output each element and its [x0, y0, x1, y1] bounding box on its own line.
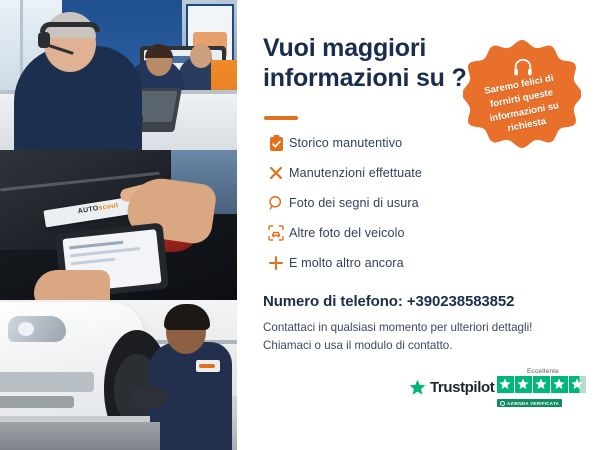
list-item-label: E molto altro ancora: [289, 256, 404, 270]
contact-line-2: Chiamaci o usa il modulo di contatto.: [263, 337, 563, 355]
contact-text: Contattaci in qualsiasi momento per ulte…: [263, 319, 563, 355]
magnifier-icon: [263, 195, 289, 211]
tools-cross-icon: [263, 165, 289, 181]
trustpilot-star-icon: [409, 379, 426, 396]
star-icon: [497, 376, 514, 393]
phone-number[interactable]: Numero di telefono: +390238583852: [263, 293, 514, 310]
star-rating: [497, 376, 589, 393]
photo-strip: AUTOscout: [0, 0, 237, 450]
trustpilot-rating: Eccellente AZIENDA VERIFICATA: [497, 368, 589, 411]
feature-list: Storico manutentivo Manutenzioni effettu…: [263, 130, 513, 280]
list-item-label: Storico manutentivo: [289, 136, 402, 150]
photo-bumper-inspection: AUTOscout: [0, 150, 237, 300]
photo-call-center: [0, 0, 237, 150]
list-item: Altre foto del veicolo: [263, 220, 513, 246]
trustpilot-widget[interactable]: Trustpilot Eccellente AZIENDA VERIFICATA: [409, 368, 589, 416]
clipboard-check-icon: [263, 135, 289, 151]
list-item: Storico manutentivo: [263, 130, 513, 156]
trustpilot-name: Trustpilot: [430, 379, 494, 396]
advertisement-card: AUTOscout Vuoi maggiori informazioni su …: [0, 0, 600, 450]
photo-mechanic-wheel: [0, 300, 237, 450]
list-item-label: Altre foto del veicolo: [289, 226, 405, 240]
star-icon-half: [569, 376, 586, 393]
list-item: Manutenzioni effettuate: [263, 160, 513, 186]
star-icon: [515, 376, 532, 393]
verified-label: AZIENDA VERIFICATA: [507, 401, 559, 406]
car-frame-icon: [263, 225, 289, 241]
plus-icon: [263, 255, 289, 271]
contact-line-1: Contattaci in qualsiasi momento per ulte…: [263, 319, 563, 337]
verified-check-icon: [500, 401, 505, 406]
list-item-label: Foto dei segni di usura: [289, 196, 419, 210]
rating-label: Eccellente: [497, 368, 589, 375]
title-divider: [264, 116, 298, 120]
list-item: E molto altro ancora: [263, 250, 513, 276]
page-title: Vuoi maggiori informazioni su ?: [263, 34, 483, 93]
trustpilot-logo: Trustpilot: [409, 379, 494, 396]
list-item: Foto dei segni di usura: [263, 190, 513, 216]
star-icon: [551, 376, 568, 393]
list-item-label: Manutenzioni effettuate: [289, 166, 422, 180]
star-icon: [533, 376, 550, 393]
verified-badge: AZIENDA VERIFICATA: [497, 399, 562, 407]
content-panel: Vuoi maggiori informazioni su ? Saremo f…: [237, 0, 600, 450]
